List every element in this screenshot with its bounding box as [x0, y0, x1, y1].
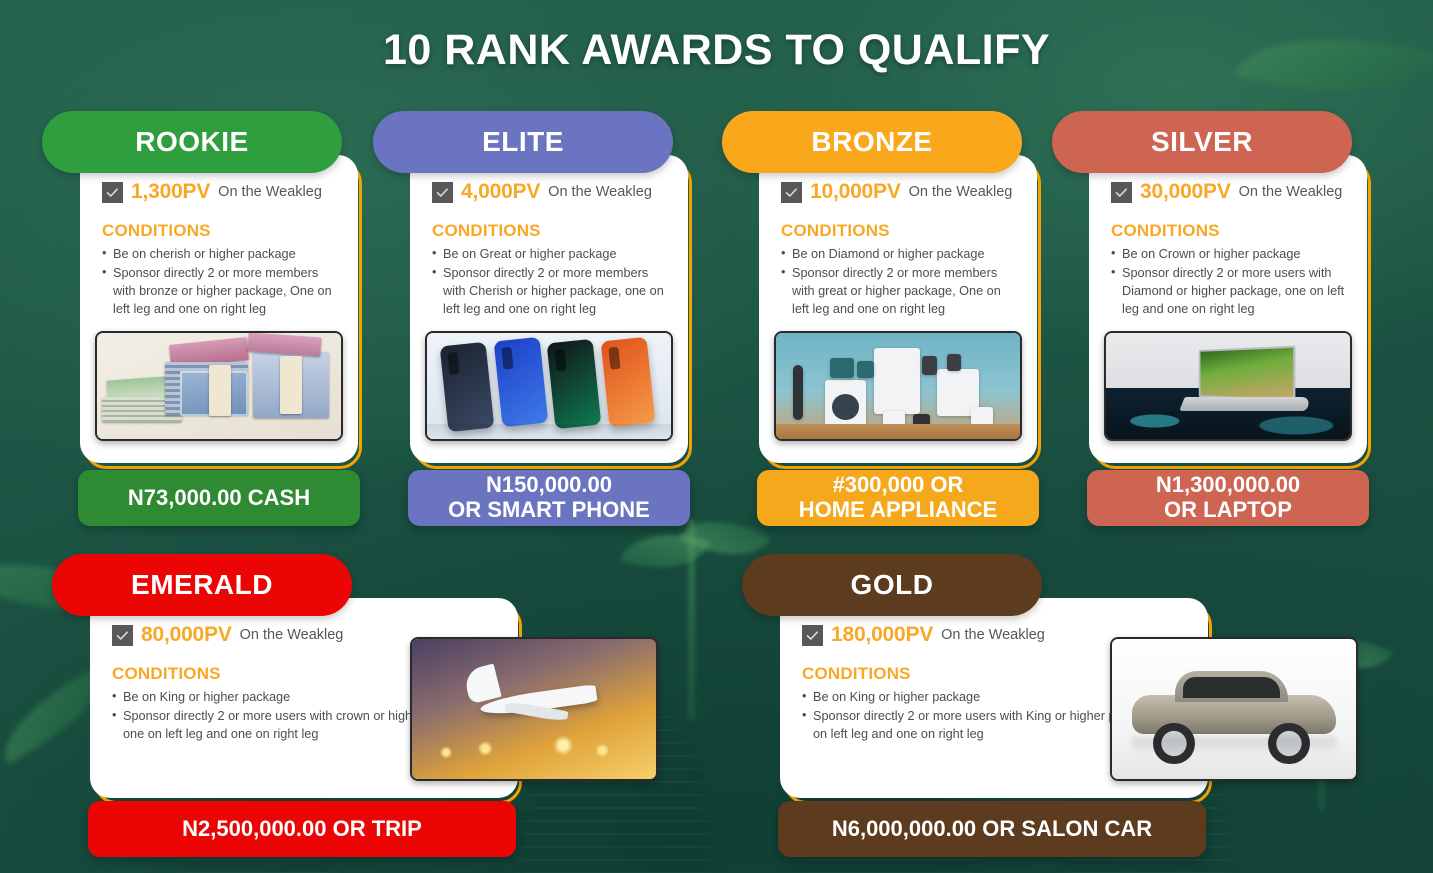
rank-name: ELITE	[482, 126, 564, 158]
reward-banner[interactable]: #300,000 ORHOME APPLIANCE	[757, 470, 1039, 526]
reward-line: N6,000,000.00 OR SALON CAR	[832, 817, 1152, 842]
reward-line: N2,500,000.00 OR TRIP	[182, 817, 422, 842]
rank-title-ribbon[interactable]: SILVER	[1052, 111, 1352, 173]
page-title: 10 RANK AWARDS TO QUALIFY	[0, 26, 1433, 75]
reward-banner[interactable]: N1,300,000.00OR LAPTOP	[1087, 470, 1369, 526]
rank-title-ribbon[interactable]: EMERALD	[52, 554, 352, 616]
rank-title-ribbon[interactable]: GOLD	[742, 554, 1042, 616]
reward-line: N73,000.00 CASH	[128, 486, 310, 511]
rank-title-ribbon[interactable]: ROOKIE	[42, 111, 342, 173]
reward-banner[interactable]: N150,000.00OR SMART PHONE	[408, 470, 690, 526]
reward-banner[interactable]: N73,000.00 CASH	[78, 470, 360, 526]
rank-title-ribbon[interactable]: ELITE	[373, 111, 673, 173]
rank-name: EMERALD	[131, 569, 273, 601]
reward-line: OR SMART PHONE	[448, 498, 650, 523]
reward-line: #300,000 OR	[833, 473, 964, 498]
rank-name: BRONZE	[811, 126, 932, 158]
rank-name: SILVER	[1151, 126, 1253, 158]
reward-banner[interactable]: N6,000,000.00 OR SALON CAR	[778, 801, 1206, 857]
reward-line: HOME APPLIANCE	[799, 498, 997, 523]
reward-line: N150,000.00	[486, 473, 612, 498]
reward-banner[interactable]: N2,500,000.00 OR TRIP	[88, 801, 516, 857]
rank-title-ribbon[interactable]: BRONZE	[722, 111, 1022, 173]
rank-name: ROOKIE	[135, 126, 248, 158]
reward-line: OR LAPTOP	[1164, 498, 1292, 523]
rank-name: GOLD	[851, 569, 934, 601]
reward-line: N1,300,000.00	[1156, 473, 1300, 498]
